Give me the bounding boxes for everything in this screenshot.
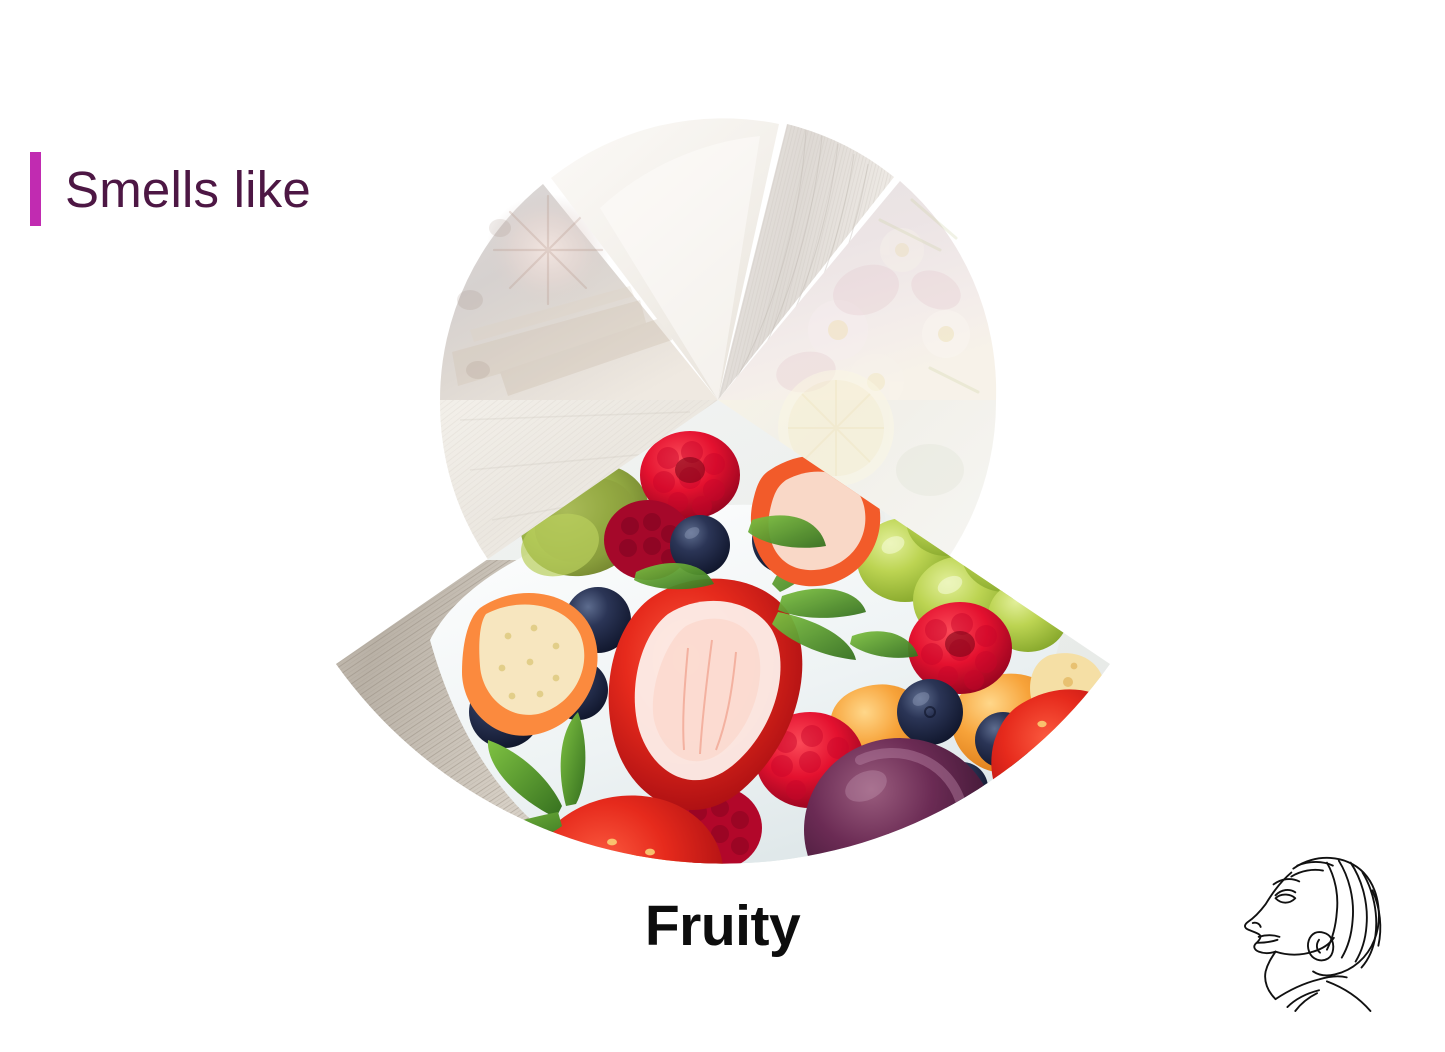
slice-fruity[interactable]	[280, 368, 1133, 979]
face-profile-smelling-icon	[1232, 832, 1410, 1012]
selected-scent-label: Fruity	[0, 893, 1445, 959]
selected-scent-text: Fruity	[645, 893, 800, 959]
fruity-photo	[280, 368, 1133, 979]
